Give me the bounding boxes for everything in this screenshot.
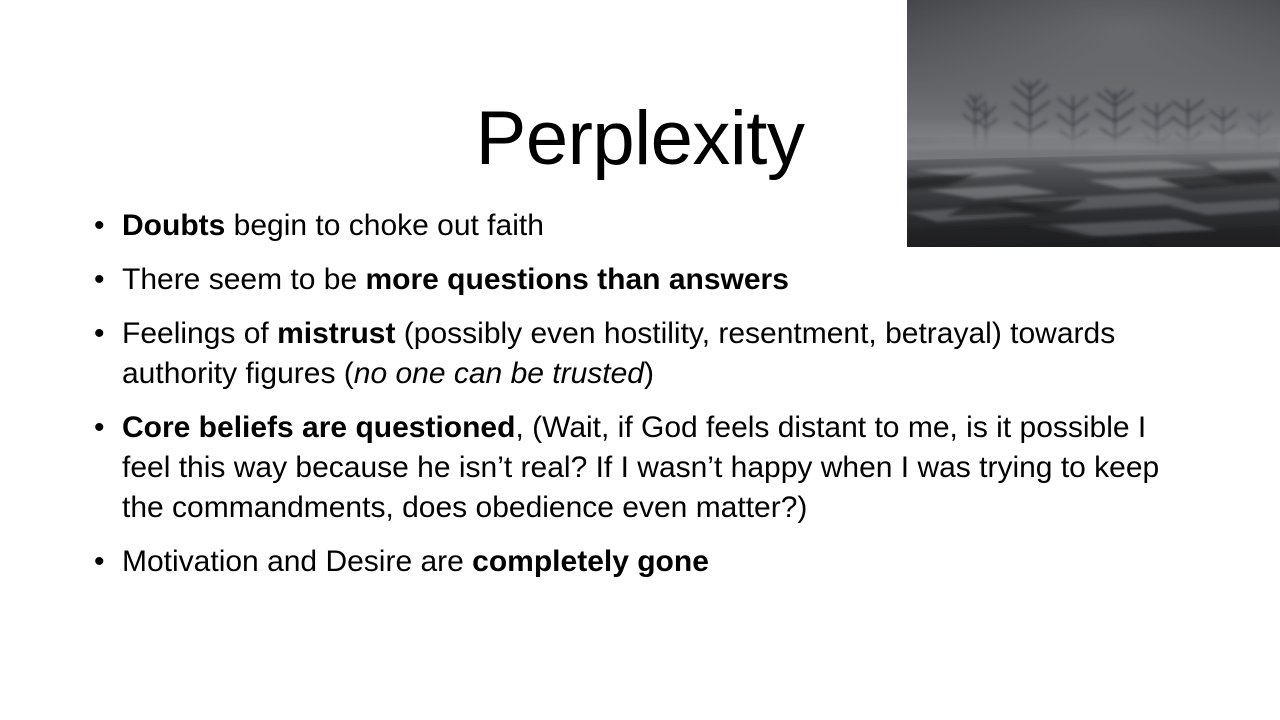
bullet-item-core-beliefs: Core beliefs are questioned, (Wait, if G… <box>90 408 1195 528</box>
slide-canvas: Perplexity <box>0 0 1280 720</box>
run-bold: completely gone <box>472 545 709 578</box>
run-bold: Doubts <box>122 209 225 242</box>
bullet-item-more-questions: There seem to be more questions than ans… <box>90 260 1195 300</box>
run-bold: more questions than answers <box>365 263 788 296</box>
run-regular: There seem to be <box>122 263 365 296</box>
run-bold: Core beliefs are questioned <box>122 411 515 444</box>
run-regular: Motivation and Desire are <box>122 545 472 578</box>
run-regular: ) <box>644 357 654 390</box>
run-bold: mistrust <box>277 317 395 350</box>
bullet-item-mistrust: Feelings of mistrust (possibly even host… <box>90 314 1195 394</box>
run-regular: Feelings of <box>122 317 277 350</box>
bullet-list: Doubts begin to choke out faith There se… <box>90 206 1195 582</box>
bullet-item-doubts: Doubts begin to choke out faith <box>90 206 1195 246</box>
run-regular: begin to choke out faith <box>225 209 544 242</box>
bullet-item-motivation: Motivation and Desire are completely gon… <box>90 542 1195 582</box>
run-italic: no one can be trusted <box>354 357 644 390</box>
